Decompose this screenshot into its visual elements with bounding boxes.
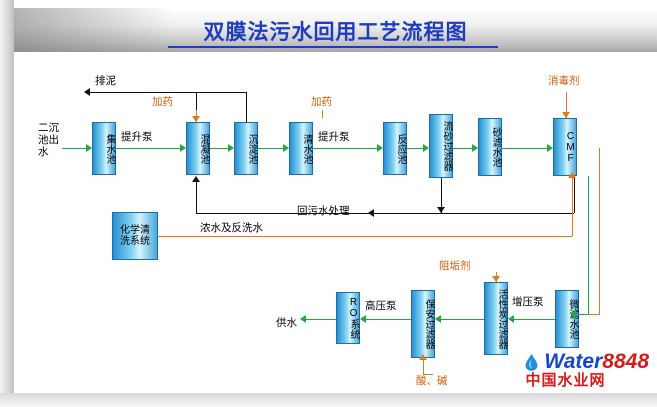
arrow-fanyingchi-to-liushaguolvqi bbox=[423, 144, 429, 152]
label-jiayao-2: 加药 bbox=[311, 96, 332, 108]
flow-qingshuichi-to-fanyingchi bbox=[313, 148, 377, 149]
arrow-jiayao-1-down bbox=[192, 116, 200, 122]
label-zengyabeng: 增压泵 bbox=[512, 296, 544, 308]
diagram-canvas: 双膜法污水回用工艺流程图 集水池 混凝池 沉淀池 清水池 反应池 流砂过滤器 砂… bbox=[0, 0, 657, 407]
arrow-cleaning-to-cmf bbox=[568, 172, 576, 178]
arrow-ro-to-gongshui bbox=[300, 315, 306, 323]
flow-liushaguolvqi-to-shalvshuichi bbox=[453, 148, 472, 149]
label-tishengbeng-2: 提升泵 bbox=[318, 131, 350, 143]
arrow-sludge-out bbox=[84, 88, 90, 96]
label-pailni: 排泥 bbox=[95, 75, 116, 87]
watermark-number: 8848 bbox=[602, 350, 649, 373]
flow-return-water-up-to-hunningchi bbox=[196, 180, 197, 213]
label-erchenchi-inlet: 二沉 池出 水 bbox=[38, 122, 59, 158]
flow-cmf-to-weilvshuichi-h bbox=[576, 314, 589, 315]
flow-shalvshuichi-to-cmf bbox=[502, 148, 547, 149]
flow-weilvshuichi-to-huoxingtan bbox=[514, 319, 555, 320]
label-jiayao-1: 加药 bbox=[152, 96, 173, 108]
arrow-shalvshuichi-to-cmf bbox=[547, 144, 553, 152]
label-xiaoduji: 消毒剂 bbox=[548, 75, 580, 87]
node-huoxingtanguolvqi[interactable]: 活性炭过滤器 bbox=[484, 282, 508, 355]
flow-inlet-to-jishuichi bbox=[62, 148, 86, 149]
bottom-frame-bar bbox=[0, 393, 657, 407]
flow-sludge-header bbox=[90, 92, 247, 93]
flow-jishuichi-to-hunningchi bbox=[116, 148, 180, 149]
node-shalvshuichi[interactable]: 砂滤水池 bbox=[478, 118, 502, 176]
flow-cleaning-to-cmf bbox=[572, 176, 573, 236]
arrow-jishuichi-to-hunningchi bbox=[180, 144, 186, 152]
node-qingshuichi[interactable]: 清水池 bbox=[289, 122, 313, 175]
arrow-inlet-to-jishuichi bbox=[86, 144, 92, 152]
flow-fanyingchi-to-liushaguolvqi bbox=[407, 148, 423, 149]
flow-suanjian-up bbox=[423, 358, 424, 374]
arrow-cmf-to-weilvshuichi bbox=[570, 310, 576, 318]
node-hunningchi[interactable]: 混凝池 bbox=[186, 122, 210, 175]
flow-suanjian-join bbox=[423, 374, 433, 375]
node-weilvshuichi[interactable]: 微滤水池 bbox=[555, 290, 579, 348]
label-gaoyabeng: 高压泵 bbox=[365, 300, 397, 312]
arrow-liushaguolvqi-to-shalvshuichi bbox=[472, 144, 478, 152]
node-baoanguolvqi[interactable]: 保安过滤器 bbox=[411, 290, 435, 358]
flow-chendianchi-to-qingshuichi bbox=[258, 148, 283, 149]
flow-cleaning-right-riser bbox=[599, 148, 600, 314]
node-huaxueqingxi[interactable]: 化学清洗系统 bbox=[112, 212, 158, 260]
arrow-suanjian-up bbox=[419, 354, 427, 360]
arrow-xiaoduji-down bbox=[562, 112, 570, 118]
node-fanyingchi[interactable]: 反应池 bbox=[383, 122, 407, 175]
label-suanjian: 酸、碱 bbox=[416, 375, 448, 387]
flow-ro-to-gongshui bbox=[306, 319, 336, 320]
arrow-weilvshuichi-to-huoxingtan bbox=[508, 315, 514, 323]
arrow-qingshuichi-to-fanyingchi bbox=[377, 144, 383, 152]
arrow-zhigouji-down bbox=[492, 276, 500, 282]
page-title: 双膜法污水回用工艺流程图 bbox=[14, 16, 657, 46]
flow-baoan-to-ro bbox=[366, 319, 411, 320]
flow-cmf-reject-left bbox=[374, 213, 574, 214]
title-underline bbox=[168, 46, 498, 48]
flow-cmf-reject-down bbox=[574, 176, 575, 213]
arrow-hunningchi-to-chendianchi bbox=[228, 144, 234, 152]
label-gongshui: 供水 bbox=[276, 317, 297, 329]
left-frame-bar bbox=[0, 0, 14, 407]
node-chendianchi[interactable]: 沉淀池 bbox=[234, 122, 258, 175]
flow-hunningchi-to-chendianchi bbox=[210, 148, 228, 149]
watermark-line2: 中国水业网 bbox=[525, 372, 649, 389]
label-tishengbeng-1: 提升泵 bbox=[121, 131, 153, 143]
flow-cleaning-header-right bbox=[158, 236, 572, 237]
arrow-chendianchi-to-qingshuichi bbox=[283, 144, 289, 152]
arrow-huoxingtan-to-baoan bbox=[435, 315, 441, 323]
flow-jiayao-2-down bbox=[322, 110, 323, 118]
flow-cmf-to-weilvshuichi bbox=[588, 176, 589, 314]
node-cmf[interactable]: CMF bbox=[553, 118, 577, 176]
arrow-return-water-to-hunningchi bbox=[192, 176, 200, 182]
flow-chendianchi-sludge-up bbox=[246, 92, 247, 122]
node-liushaguolvqi[interactable]: 流砂过滤器 bbox=[429, 114, 453, 178]
watermark-line1: Water8848 bbox=[525, 351, 649, 372]
label-zhigouji: 阻垢剂 bbox=[439, 260, 471, 272]
watermark-brand: Water bbox=[544, 350, 602, 373]
label-nongshui-fanxishui: 浓水及反洗水 bbox=[200, 222, 263, 234]
label-huiwushuichuli: 回污水处理 bbox=[297, 205, 350, 217]
arrow-baoan-to-ro bbox=[360, 315, 366, 323]
watermark: Water8848 中国水业网 bbox=[525, 351, 649, 389]
node-rosystem[interactable]: RO系统 bbox=[336, 292, 360, 344]
water-drop-icon bbox=[525, 354, 538, 370]
flow-huoxingtan-to-baoan bbox=[441, 319, 484, 320]
node-jishuichi[interactable]: 集水池 bbox=[92, 122, 116, 175]
